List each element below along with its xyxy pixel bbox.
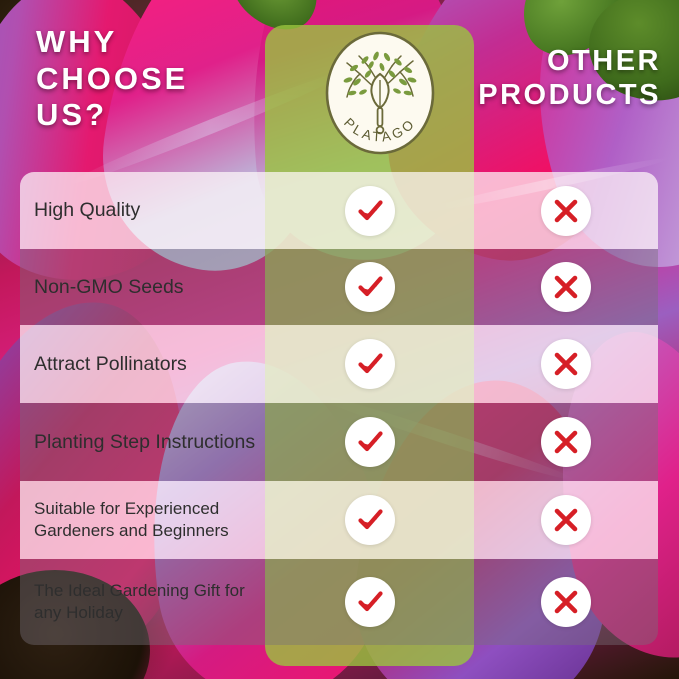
cell-us	[265, 262, 474, 312]
table-row: Planting Step Instructions	[20, 403, 658, 481]
cell-us	[265, 495, 474, 545]
cell-other	[474, 417, 658, 467]
cross-icon	[541, 577, 591, 627]
cell-other	[474, 262, 658, 312]
feature-label: Non-GMO Seeds	[20, 275, 265, 300]
cross-icon	[541, 417, 591, 467]
cross-icon	[541, 339, 591, 389]
check-icon	[345, 186, 395, 236]
cross-icon	[541, 495, 591, 545]
cell-us	[265, 577, 474, 627]
feature-label: Suitable for Experienced Gardeners and B…	[20, 498, 265, 542]
cell-us	[265, 417, 474, 467]
feature-label: The Ideal Gardening Gift for any Holiday	[20, 580, 265, 624]
table-row: The Ideal Gardening Gift for any Holiday	[20, 559, 658, 645]
platago-logo: PLATAGO	[324, 30, 436, 156]
check-icon	[345, 262, 395, 312]
cross-icon	[541, 186, 591, 236]
comparison-table: High Quality Non-GMO Seeds	[20, 172, 658, 645]
table-row: High Quality	[20, 172, 658, 249]
check-icon	[345, 339, 395, 389]
comparison-infographic: WHY CHOOSE US? OTHER PRODUCTS	[0, 0, 679, 679]
cell-us	[265, 186, 474, 236]
heading-why-choose-us: WHY CHOOSE US?	[36, 24, 266, 134]
table-row: Non-GMO Seeds	[20, 249, 658, 325]
cell-other	[474, 577, 658, 627]
feature-label: Attract Pollinators	[20, 352, 265, 377]
check-icon	[345, 417, 395, 467]
cell-other	[474, 339, 658, 389]
check-icon	[345, 495, 395, 545]
cell-other	[474, 495, 658, 545]
table-row: Attract Pollinators	[20, 325, 658, 403]
check-icon	[345, 577, 395, 627]
cell-other	[474, 186, 658, 236]
cross-icon	[541, 262, 591, 312]
feature-label: Planting Step Instructions	[20, 430, 265, 455]
cell-us	[265, 339, 474, 389]
table-row: Suitable for Experienced Gardeners and B…	[20, 481, 658, 559]
feature-label: High Quality	[20, 198, 265, 223]
